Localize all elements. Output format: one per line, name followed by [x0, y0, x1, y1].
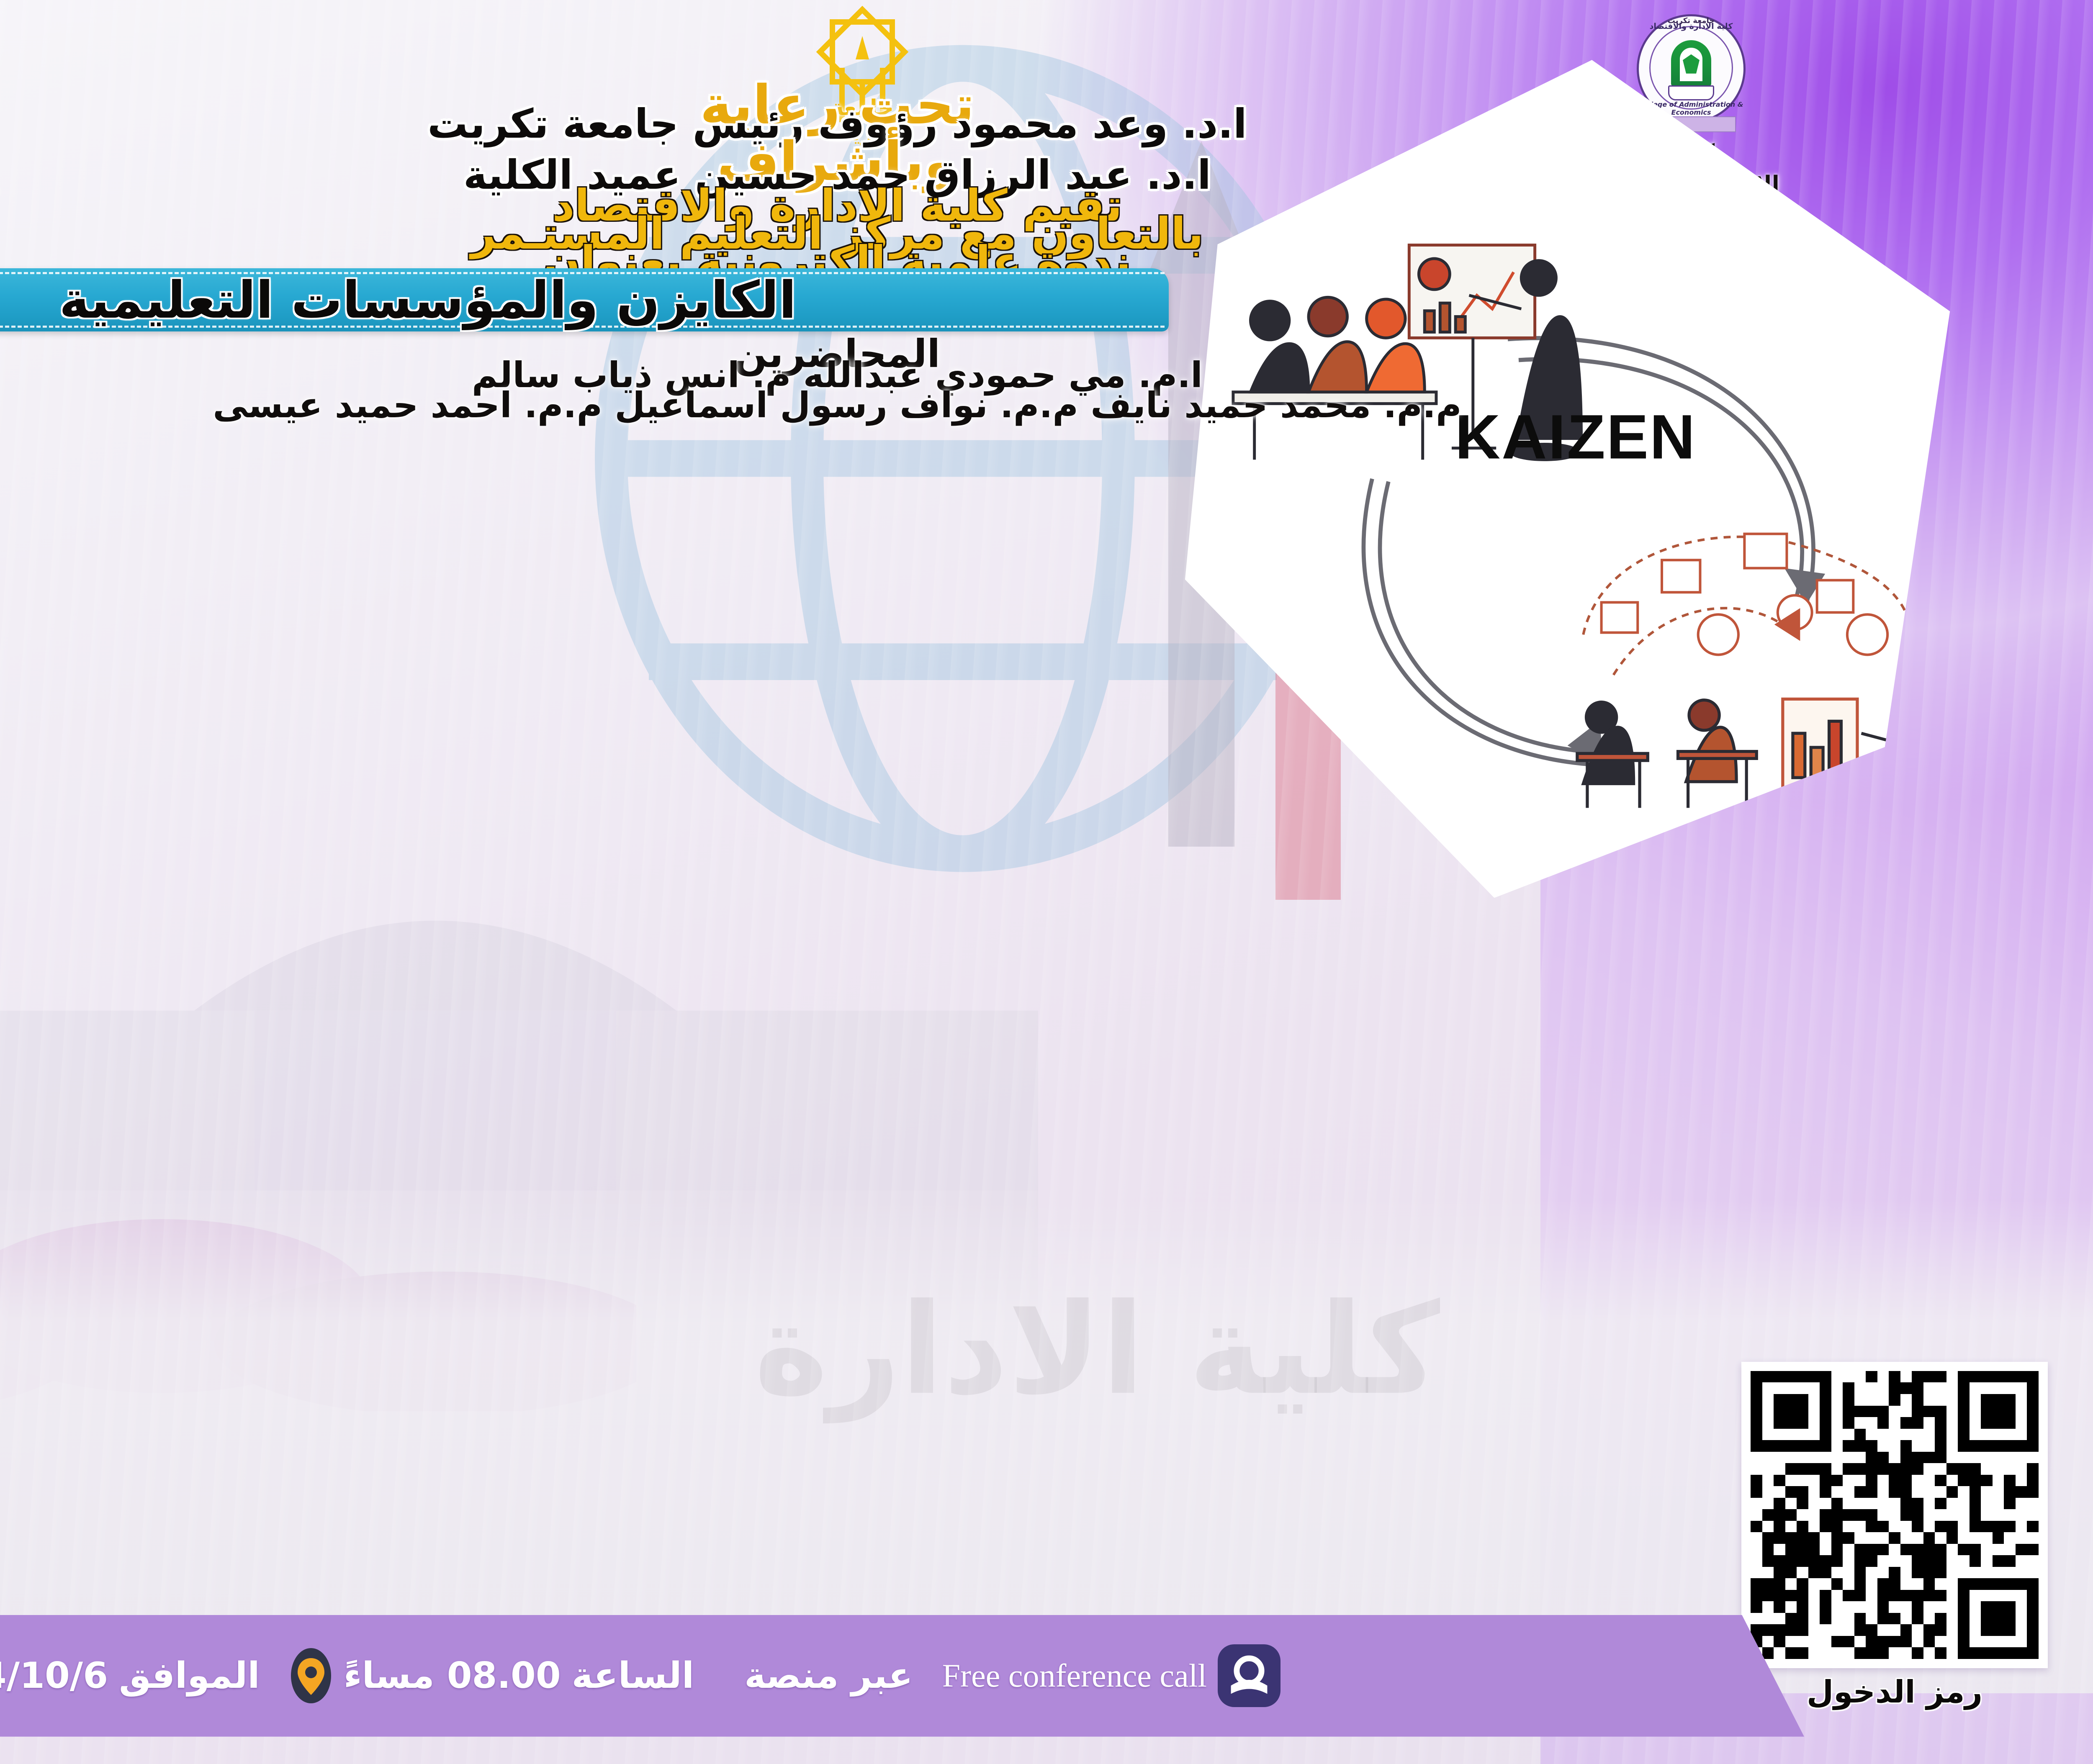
footer-date-value: 2024/10/6: [0, 1655, 108, 1697]
footer-platform-item: عبر منصة: [744, 1655, 913, 1697]
footer-platform-brand[interactable]: Free conference call: [942, 1644, 1280, 1707]
lecturers-row-2: م.م. محمد حميد نايف م.م. نواف رسول اسماع…: [0, 385, 2093, 426]
footer-time-value: 08.00 مساءً: [344, 1655, 561, 1697]
footer-time-item: الساعة 08.00 مساءً: [289, 1648, 694, 1704]
qr-code-icon[interactable]: [1741, 1362, 2048, 1668]
location-pin-icon: [289, 1648, 333, 1704]
qr-code-matrix: [1751, 1371, 2039, 1659]
footer-platform-label: عبر منصة: [744, 1655, 913, 1697]
footer-time-label: الساعة: [572, 1655, 694, 1697]
college-seal-ribbon: جامعة تكريت: [1633, 16, 1750, 25]
footer-date-item: الموافق 2024/10/6: [0, 1648, 260, 1703]
title-banner: الكايزن والمؤسسات التعليمية: [0, 268, 1169, 332]
footer-date-label: الموافق: [119, 1655, 260, 1697]
qr-code-block[interactable]: رمز الدخول: [1741, 1362, 2048, 1710]
poster-root: كلية الادارة Republic of Iraq وزارة التع…: [0, 0, 2093, 1764]
seminar-title: الكايزن والمؤسسات التعليمية: [0, 268, 1169, 332]
phone-app-icon[interactable]: [1218, 1644, 1280, 1707]
footer-platform-name: Free conference call: [942, 1657, 1207, 1695]
footer-bar: يوم الاحد الموافق 2024/10/6 الساعة 08.00…: [0, 1615, 1804, 1737]
